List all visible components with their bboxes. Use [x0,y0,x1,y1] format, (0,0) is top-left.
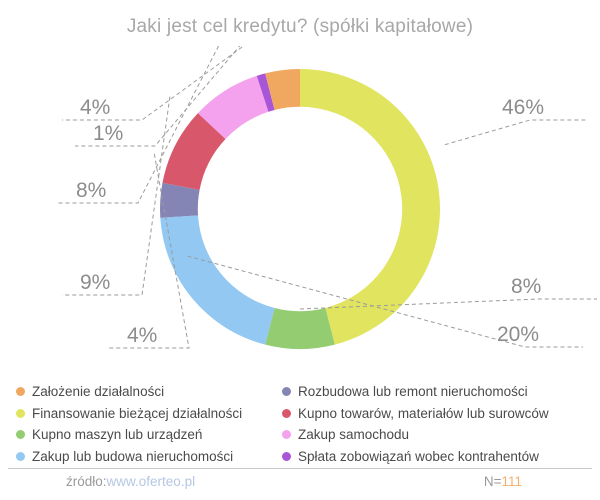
source-label: źródło: [66,474,107,489]
legend-item-label: Kupno towarów, materiałów lub surowców [298,407,549,421]
legend-dot-icon [282,387,291,396]
donut-slices[interactable] [160,69,440,349]
sample-size: N=111 [484,474,522,489]
footer: źródło:www.oferteo.pl N=111 [0,471,600,499]
legend-dot-icon [282,409,291,418]
legend-item-label: Spłata zobowiązań wobec kontrahentów [298,450,539,464]
slice-percentage-label: 8% [76,179,106,203]
legend-dot-icon [282,452,291,461]
legend-item-label: Rozbudowa lub remont nieruchomości [298,385,528,399]
legend-item[interactable]: Założenie działalności [16,381,242,403]
legend-column-left: Założenie działalności Finansowanie bież… [16,381,242,467]
legend-dot-icon [16,409,25,418]
sample-size-value: 111 [501,474,522,489]
legend: Założenie działalności Finansowanie bież… [0,381,600,467]
legend-item[interactable]: Rozbudowa lub remont nieruchomości [282,381,549,403]
legend-item[interactable]: Kupno towarów, materiałów lub surowców [282,403,549,425]
legend-item-label: Zakup samochodu [298,428,409,442]
legend-dot-icon [16,430,25,439]
slice-percentage-label: 4% [127,324,157,348]
legend-dot-icon [16,387,25,396]
donut-slice[interactable] [300,69,440,345]
page-title: Jaki jest cel kredytu? (spółki kapitałow… [0,16,600,38]
source-note: źródło:www.oferteo.pl [66,474,195,489]
source-url[interactable]: www.oferteo.pl [107,474,196,489]
donut-slice[interactable] [160,215,274,344]
slice-percentage-label: 9% [80,271,110,295]
legend-item[interactable]: Kupno maszyn lub urządzeń [16,424,242,446]
legend-item-label: Finansowanie bieżącej działalności [32,407,242,421]
slice-percentage-label: 4% [80,96,110,120]
chart-root: Jaki jest cel kredytu? (spółki kapitałow… [0,0,600,500]
donut-slice[interactable] [265,308,335,349]
legend-column-right: Rozbudowa lub remont nieruchomości Kupno… [282,381,549,467]
legend-item-label: Zakup lub budowa nieruchomości [32,450,233,464]
legend-item[interactable]: Zakup samochodu [282,424,549,446]
legend-item[interactable]: Spłata zobowiązań wobec kontrahentów [282,446,549,468]
footer-divider [8,468,592,469]
slice-percentage-label: 1% [93,122,123,146]
slice-percentage-label: 20% [497,323,539,347]
legend-dot-icon [16,452,25,461]
leader-line [445,120,588,145]
legend-dot-icon [282,430,291,439]
slice-percentage-label: 8% [511,275,541,299]
slice-percentage-label: 46% [502,96,544,120]
legend-item-label: Kupno maszyn lub urządzeń [32,428,202,442]
sample-size-label: N= [484,474,502,489]
legend-item-label: Założenie działalności [32,385,164,399]
legend-item[interactable]: Zakup lub budowa nieruchomości [16,446,242,468]
legend-item[interactable]: Finansowanie bieżącej działalności [16,403,242,425]
